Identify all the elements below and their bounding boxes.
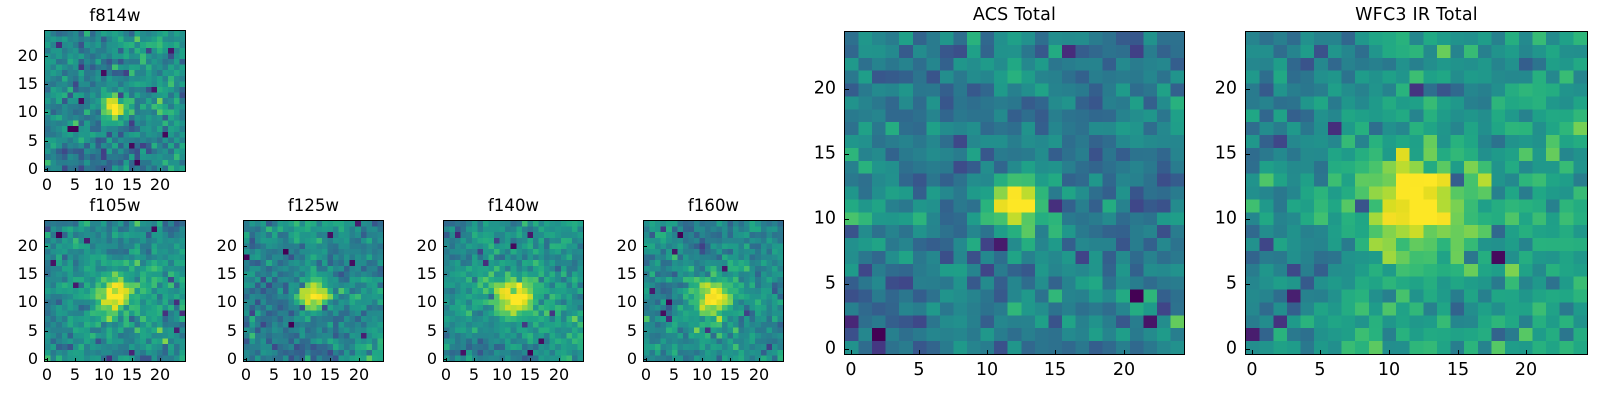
ytick-f814w-0 — [44, 169, 48, 170]
yticklabel-f814w-1: 5 — [28, 133, 38, 149]
yticklabel-f814w-0: 0 — [28, 161, 38, 177]
xticklabel-f160w-2: 10 — [692, 367, 712, 383]
xtick-f814w-4 — [160, 168, 161, 172]
ytick-acs-total-2 — [844, 219, 849, 220]
ytick-f140w-0 — [443, 359, 447, 360]
yticklabel-f105w-0: 0 — [28, 351, 38, 367]
ytick-f125w-0 — [243, 359, 247, 360]
xtick-acs-total-2 — [987, 350, 988, 355]
ytick-f125w-1 — [243, 331, 247, 332]
ytick-f160w-2 — [643, 302, 647, 303]
yticklabel-wfc3-ir-total-4: 20 — [1215, 80, 1237, 98]
xtick-wfc3-ir-total-0 — [1252, 350, 1253, 355]
xticklabel-f814w-2: 10 — [94, 177, 114, 193]
panel-title-f160w: f160w — [643, 196, 784, 215]
xticklabel-acs-total-0: 0 — [845, 362, 856, 380]
xticklabel-wfc3-ir-total-2: 10 — [1378, 362, 1400, 380]
axes-f160w — [643, 220, 784, 362]
xtick-acs-total-4 — [1124, 350, 1125, 355]
yticklabel-f160w-2: 10 — [617, 294, 637, 310]
xticklabel-f105w-1: 5 — [70, 367, 80, 383]
xtick-f140w-1 — [474, 358, 475, 362]
xtick-f814w-2 — [104, 168, 105, 172]
heatmap-image-f140w — [444, 221, 583, 361]
xtick-f160w-2 — [702, 358, 703, 362]
panel-title-wfc3-ir-total: WFC3 IR Total — [1245, 5, 1588, 25]
panel-f814w: f814w0510152005101520 — [44, 30, 186, 172]
yticklabel-f125w-0: 0 — [227, 351, 237, 367]
yticklabel-f105w-4: 20 — [18, 238, 38, 254]
xticklabel-f140w-2: 10 — [492, 367, 512, 383]
ytick-f140w-1 — [443, 331, 447, 332]
xticklabel-f125w-1: 5 — [269, 367, 279, 383]
ytick-f105w-3 — [44, 274, 48, 275]
xtick-f105w-1 — [75, 358, 76, 362]
ytick-f814w-4 — [44, 56, 48, 57]
ytick-f140w-3 — [443, 274, 447, 275]
yticklabel-f140w-3: 15 — [417, 266, 437, 282]
ytick-wfc3-ir-total-4 — [1245, 89, 1250, 90]
ytick-f160w-3 — [643, 274, 647, 275]
xtick-f160w-4 — [759, 358, 760, 362]
xticklabel-f814w-3: 15 — [122, 177, 142, 193]
xtick-wfc3-ir-total-3 — [1458, 350, 1459, 355]
panel-f125w: f125w0510152005101520 — [243, 220, 384, 362]
yticklabel-f105w-1: 5 — [28, 323, 38, 339]
axes-acs-total — [844, 31, 1185, 355]
ytick-acs-total-1 — [844, 284, 849, 285]
xticklabel-acs-total-2: 10 — [976, 362, 998, 380]
ytick-f105w-0 — [44, 359, 48, 360]
xticklabel-f160w-3: 15 — [720, 367, 740, 383]
xticklabel-f160w-4: 20 — [749, 367, 769, 383]
yticklabel-f160w-4: 20 — [617, 238, 637, 254]
xtick-acs-total-3 — [1055, 350, 1056, 355]
axes-f140w — [443, 220, 584, 362]
panel-title-acs-total: ACS Total — [844, 5, 1185, 25]
xtick-wfc3-ir-total-4 — [1526, 350, 1527, 355]
ytick-wfc3-ir-total-0 — [1245, 349, 1250, 350]
panel-f105w: f105w0510152005101520 — [44, 220, 186, 362]
heatmap-image-wfc3-ir-total — [1246, 32, 1587, 354]
ytick-acs-total-4 — [844, 89, 849, 90]
ytick-f814w-2 — [44, 112, 48, 113]
yticklabel-wfc3-ir-total-1: 5 — [1226, 275, 1237, 293]
heatmap-image-f814w — [45, 31, 185, 171]
xtick-acs-total-0 — [851, 350, 852, 355]
xticklabel-f125w-3: 15 — [320, 367, 340, 383]
ytick-f105w-4 — [44, 246, 48, 247]
xtick-f814w-1 — [75, 168, 76, 172]
xtick-f140w-4 — [559, 358, 560, 362]
heatmap-image-acs-total — [845, 32, 1184, 354]
xticklabel-acs-total-3: 15 — [1044, 362, 1066, 380]
ytick-f160w-4 — [643, 246, 647, 247]
panel-f140w: f140w0510152005101520 — [443, 220, 584, 362]
xtick-wfc3-ir-total-1 — [1320, 350, 1321, 355]
xtick-f160w-1 — [674, 358, 675, 362]
yticklabel-f160w-1: 5 — [627, 323, 637, 339]
xticklabel-f140w-3: 15 — [520, 367, 540, 383]
panel-title-f140w: f140w — [443, 196, 584, 215]
figure-canvas: f814w0510152005101520f105w05101520051015… — [0, 0, 1600, 400]
ytick-f125w-3 — [243, 274, 247, 275]
xtick-f105w-3 — [132, 358, 133, 362]
xtick-f160w-3 — [730, 358, 731, 362]
xticklabel-f814w-0: 0 — [42, 177, 52, 193]
xticklabel-f105w-0: 0 — [42, 367, 52, 383]
ytick-wfc3-ir-total-3 — [1245, 154, 1250, 155]
yticklabel-f814w-2: 10 — [18, 104, 38, 120]
yticklabel-f125w-4: 20 — [217, 238, 237, 254]
ytick-f160w-0 — [643, 359, 647, 360]
xtick-wfc3-ir-total-2 — [1389, 350, 1390, 355]
yticklabel-wfc3-ir-total-3: 15 — [1215, 145, 1237, 163]
xticklabel-f160w-0: 0 — [641, 367, 651, 383]
yticklabel-acs-total-4: 20 — [814, 80, 836, 98]
xticklabel-f814w-4: 20 — [150, 177, 170, 193]
xticklabel-f140w-0: 0 — [441, 367, 451, 383]
ytick-f105w-1 — [44, 331, 48, 332]
heatmap-image-f105w — [45, 221, 185, 361]
xticklabel-acs-total-1: 5 — [913, 362, 924, 380]
xticklabel-acs-total-4: 20 — [1113, 362, 1135, 380]
ytick-f105w-2 — [44, 302, 48, 303]
ytick-wfc3-ir-total-2 — [1245, 219, 1250, 220]
xticklabel-f105w-2: 10 — [94, 367, 114, 383]
yticklabel-acs-total-1: 5 — [825, 275, 836, 293]
axes-f125w — [243, 220, 384, 362]
panel-title-f125w: f125w — [243, 196, 384, 215]
xticklabel-f160w-1: 5 — [669, 367, 679, 383]
ytick-f814w-1 — [44, 141, 48, 142]
xticklabel-wfc3-ir-total-0: 0 — [1246, 362, 1257, 380]
ytick-f160w-1 — [643, 331, 647, 332]
xticklabel-f105w-4: 20 — [150, 367, 170, 383]
xtick-f125w-1 — [274, 358, 275, 362]
xticklabel-f140w-1: 5 — [469, 367, 479, 383]
yticklabel-wfc3-ir-total-0: 0 — [1226, 340, 1237, 358]
ytick-f125w-2 — [243, 302, 247, 303]
axes-wfc3-ir-total — [1245, 31, 1588, 355]
xtick-f125w-3 — [330, 358, 331, 362]
xtick-f140w-3 — [530, 358, 531, 362]
ytick-acs-total-0 — [844, 349, 849, 350]
xticklabel-f814w-1: 5 — [70, 177, 80, 193]
xtick-f125w-2 — [302, 358, 303, 362]
xtick-f105w-2 — [104, 358, 105, 362]
ytick-f814w-3 — [44, 84, 48, 85]
ytick-wfc3-ir-total-1 — [1245, 284, 1250, 285]
yticklabel-f140w-2: 10 — [417, 294, 437, 310]
panel-title-f105w: f105w — [44, 196, 186, 215]
yticklabel-f125w-1: 5 — [227, 323, 237, 339]
xticklabel-wfc3-ir-total-4: 20 — [1515, 362, 1537, 380]
panel-acs-total: ACS Total0510152005101520 — [844, 31, 1185, 355]
yticklabel-f160w-0: 0 — [627, 351, 637, 367]
yticklabel-f160w-3: 15 — [617, 266, 637, 282]
xticklabel-f125w-0: 0 — [241, 367, 251, 383]
xticklabel-wfc3-ir-total-1: 5 — [1314, 362, 1325, 380]
yticklabel-f105w-3: 15 — [18, 266, 38, 282]
xtick-f814w-3 — [132, 168, 133, 172]
yticklabel-f125w-3: 15 — [217, 266, 237, 282]
yticklabel-f125w-2: 10 — [217, 294, 237, 310]
xtick-acs-total-1 — [919, 350, 920, 355]
yticklabel-wfc3-ir-total-2: 10 — [1215, 210, 1237, 228]
xtick-f125w-4 — [359, 358, 360, 362]
ytick-acs-total-3 — [844, 154, 849, 155]
yticklabel-f140w-1: 5 — [427, 323, 437, 339]
ytick-f140w-2 — [443, 302, 447, 303]
axes-f814w — [44, 30, 186, 172]
yticklabel-acs-total-3: 15 — [814, 145, 836, 163]
yticklabel-acs-total-0: 0 — [825, 340, 836, 358]
axes-f105w — [44, 220, 186, 362]
yticklabel-f105w-2: 10 — [18, 294, 38, 310]
xtick-f105w-4 — [160, 358, 161, 362]
heatmap-image-f125w — [244, 221, 383, 361]
yticklabel-acs-total-2: 10 — [814, 210, 836, 228]
yticklabel-f814w-4: 20 — [18, 48, 38, 64]
yticklabel-f814w-3: 15 — [18, 76, 38, 92]
ytick-f140w-4 — [443, 246, 447, 247]
xtick-f140w-2 — [502, 358, 503, 362]
xticklabel-f105w-3: 15 — [122, 367, 142, 383]
panel-wfc3-ir-total: WFC3 IR Total0510152005101520 — [1245, 31, 1588, 355]
panel-title-f814w: f814w — [44, 6, 186, 25]
xticklabel-wfc3-ir-total-3: 15 — [1447, 362, 1469, 380]
heatmap-image-f160w — [644, 221, 783, 361]
panel-f160w: f160w0510152005101520 — [643, 220, 784, 362]
yticklabel-f140w-0: 0 — [427, 351, 437, 367]
ytick-f125w-4 — [243, 246, 247, 247]
xticklabel-f125w-4: 20 — [349, 367, 369, 383]
yticklabel-f140w-4: 20 — [417, 238, 437, 254]
xticklabel-f140w-4: 20 — [549, 367, 569, 383]
xticklabel-f125w-2: 10 — [292, 367, 312, 383]
